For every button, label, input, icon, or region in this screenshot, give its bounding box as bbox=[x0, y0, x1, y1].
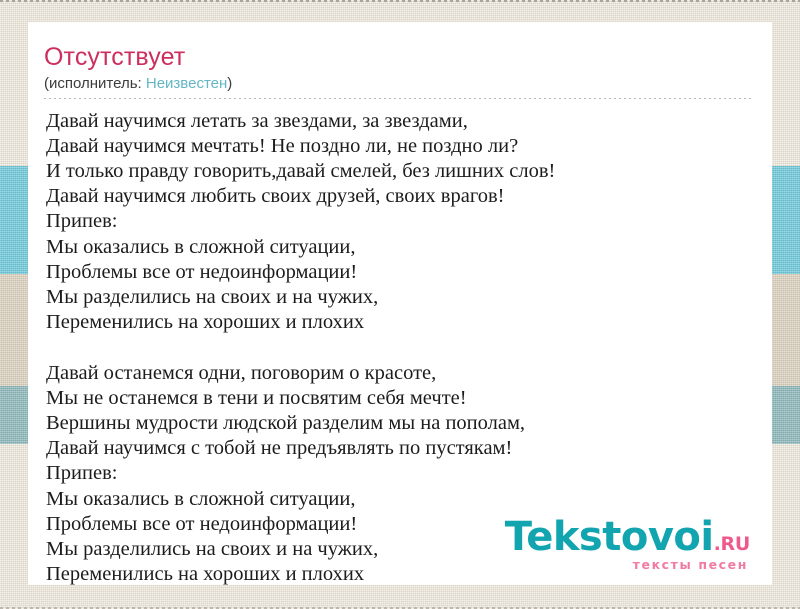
page-background: Отсутствует (исполнитель: Неизвестен) Да… bbox=[0, 0, 800, 609]
logo-tagline: тексты песен bbox=[505, 559, 750, 572]
artist-prefix-label: (исполнитель: bbox=[44, 75, 146, 92]
artist-link[interactable]: Неизвестен bbox=[146, 75, 227, 92]
header-divider bbox=[44, 98, 754, 99]
page-title: Отсутствует bbox=[44, 44, 754, 72]
logo-tld-text: .RU bbox=[714, 533, 750, 555]
lyrics-card: Отсутствует (исполнитель: Неизвестен) Да… bbox=[28, 22, 772, 585]
site-logo[interactable]: Tekstovoi.RU тексты песен bbox=[505, 517, 750, 572]
top-divider bbox=[0, 0, 800, 2]
artist-suffix-label: ) bbox=[227, 75, 232, 92]
logo-wordmark: Tekstovoi.RU bbox=[505, 517, 750, 557]
artist-line: (исполнитель: Неизвестен) bbox=[44, 75, 754, 98]
logo-main-text: Tekstovoi bbox=[505, 514, 714, 560]
